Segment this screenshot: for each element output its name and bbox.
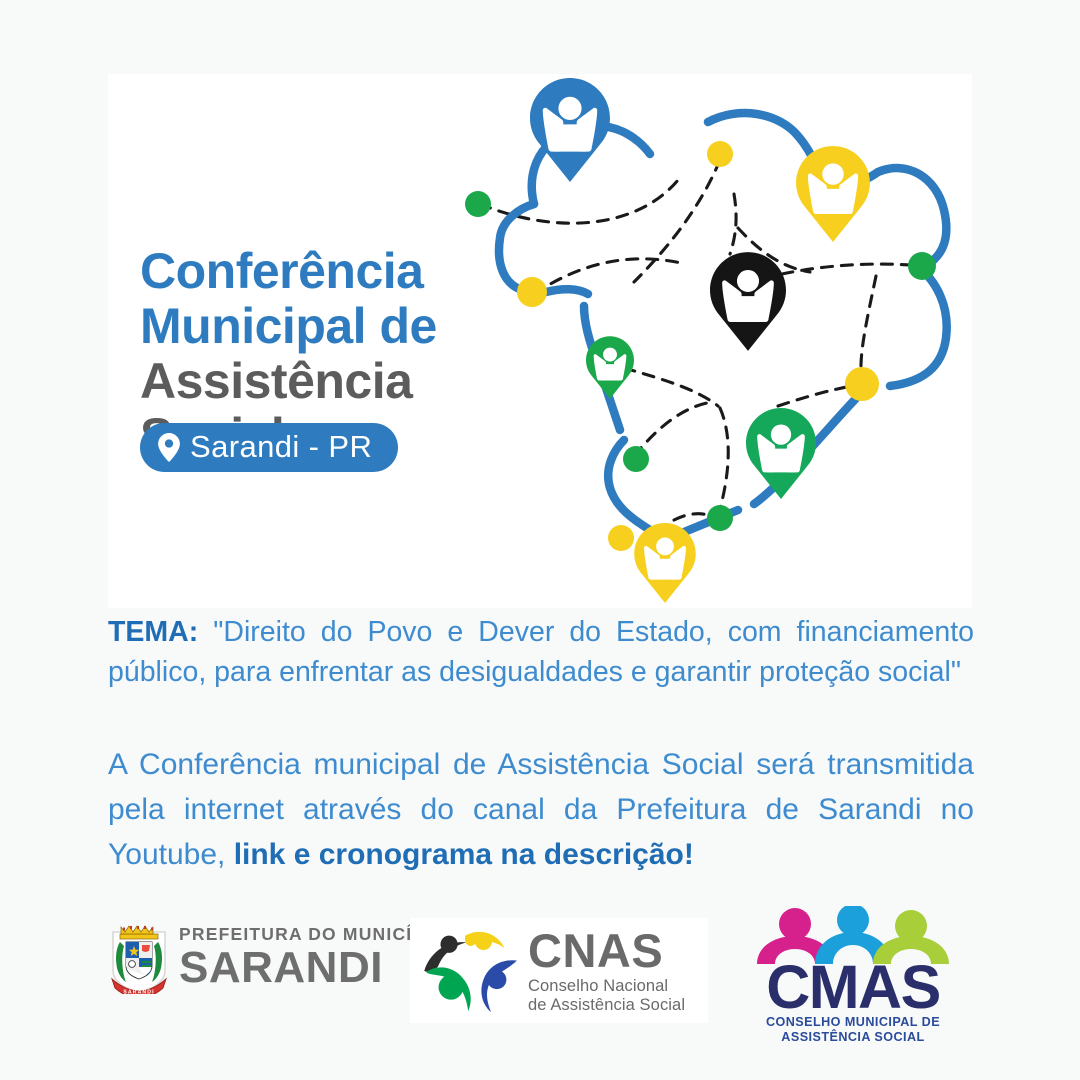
cmas-acronym: CMAS — [766, 962, 940, 1012]
pin-northeast — [796, 146, 870, 242]
cnas-people-pinwheel-icon — [424, 928, 520, 1014]
body-paragraph: A Conferência municipal de Assistência S… — [108, 742, 974, 877]
logo-cnas: CNAS Conselho Nacional de Assistência So… — [410, 918, 708, 1023]
logo-row: SARANDI PREFEITURA DO MUNICÍPIO DE SARAN… — [0, 900, 1080, 1055]
node-n-dot — [707, 141, 733, 167]
node-se-dot — [845, 367, 879, 401]
cnas-line-1: Conselho Nacional — [528, 978, 685, 995]
title-line-2: Municipal de — [140, 299, 540, 354]
cmas-line-1: CONSELHO MUNICIPAL DE — [766, 1015, 940, 1029]
poster-root: Conferência Municipal de Assistência Soc… — [0, 0, 1080, 1080]
pin-southeast — [746, 408, 816, 499]
cnas-wordmark: CNAS Conselho Nacional de Assistência So… — [528, 928, 685, 1013]
title-line-1: Conferência — [140, 244, 540, 299]
tema-text: "Direito do Povo e Dever do Estado, com … — [108, 616, 974, 688]
tema-paragraph: TEMA: "Direito do Povo e Dever do Estado… — [108, 612, 974, 693]
location-badge-label: Sarandi - PR — [190, 431, 372, 465]
logo-cmas: CMAS CONSELHO MUNICIPAL DEASSISTÊNCIA SO… — [748, 906, 958, 1048]
cmas-subtitle: CONSELHO MUNICIPAL DEASSISTÊNCIA SOCIAL — [766, 1015, 940, 1046]
brasao-ribbon-text: SARANDI — [123, 989, 154, 994]
body-highlight-text: link e cronograma na descrição! — [234, 838, 694, 871]
pin-north — [530, 78, 610, 182]
pin-center — [710, 252, 786, 351]
pin-south — [634, 523, 696, 603]
dashed-network-links — [480, 160, 922, 564]
body-block: A Conferência municipal de Assistência S… — [108, 742, 974, 877]
sarandi-coat-of-arms-icon: SARANDI — [110, 922, 168, 994]
pin-centerwest — [586, 336, 634, 398]
cnas-line-2: de Assistência Social — [528, 997, 685, 1014]
cmas-line-2: ASSISTÊNCIA SOCIAL — [781, 1030, 924, 1044]
hero-card: Conferência Municipal de Assistência Soc… — [108, 74, 972, 608]
map-pin-icon — [158, 433, 180, 462]
node-nw-dot — [465, 191, 491, 217]
tema-label: TEMA: — [108, 616, 198, 648]
location-badge[interactable]: Sarandi - PR — [140, 423, 398, 472]
tema-block: TEMA: "Direito do Povo e Dever do Estado… — [108, 612, 974, 693]
cnas-acronym: CNAS — [528, 928, 685, 974]
title-line-3: Assistência — [140, 354, 540, 409]
node-sw-dot — [608, 525, 634, 551]
node-s2-dot — [707, 505, 733, 531]
node-s1-dot — [623, 446, 649, 472]
node-e-dot — [908, 252, 936, 280]
